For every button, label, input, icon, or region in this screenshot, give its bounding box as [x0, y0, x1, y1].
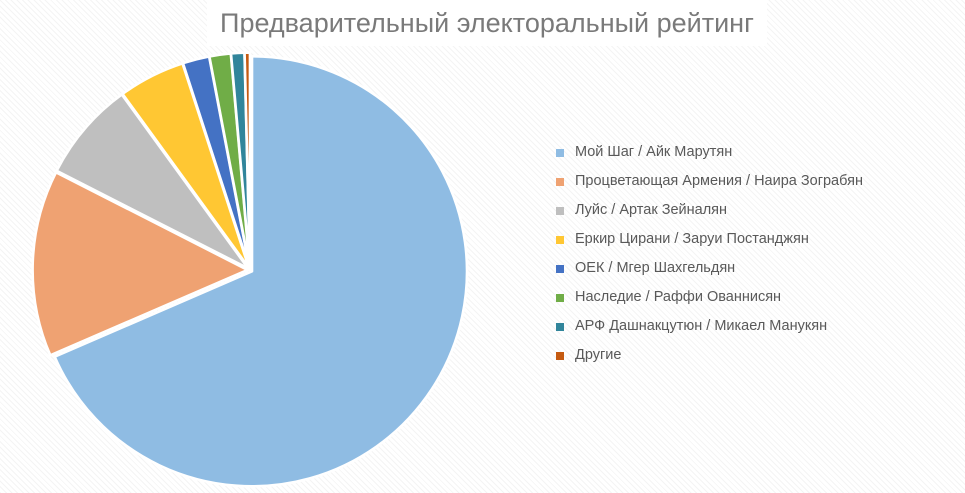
- legend-item-label: Мой Шаг / Айк Марутян: [575, 145, 732, 160]
- legend-swatch-icon: [556, 265, 564, 273]
- legend-item[interactable]: АРФ Дашнакцутюн / Микаел Манукян: [556, 312, 936, 341]
- legend-item-label: Еркир Цирани / Заруи Постанджян: [575, 232, 809, 247]
- page-title: Предварительный электоральный рейтинг: [220, 8, 754, 39]
- legend-item[interactable]: Наследие / Раффи Ованнисян: [556, 283, 936, 312]
- legend-item[interactable]: Мой Шаг / Айк Марутян: [556, 138, 936, 167]
- chart-legend: Мой Шаг / Айк МарутянПроцветающая Армени…: [556, 138, 936, 370]
- legend-item-label: Луйс / Артак Зейналян: [575, 203, 727, 218]
- legend-item-label: Другие: [575, 348, 621, 363]
- legend-item[interactable]: Другие: [556, 341, 936, 370]
- legend-item-label: Процветающая Армения / Наира Зограбян: [575, 174, 863, 189]
- legend-swatch-icon: [556, 294, 564, 302]
- legend-swatch-icon: [556, 149, 564, 157]
- legend-item-label: АРФ Дашнакцутюн / Микаел Манукян: [575, 319, 827, 334]
- legend-item[interactable]: Еркир Цирани / Заруи Постанджян: [556, 225, 936, 254]
- pie-chart: [18, 38, 488, 493]
- legend-item[interactable]: Луйс / Артак Зейналян: [556, 196, 936, 225]
- legend-swatch-icon: [556, 236, 564, 244]
- legend-item-label: Наследие / Раффи Ованнисян: [575, 290, 781, 305]
- legend-item[interactable]: ОЕК / Мгер Шахгельдян: [556, 254, 936, 283]
- slide-background: Предварительный электоральный рейтинг Мо…: [0, 0, 965, 493]
- legend-item-label: ОЕК / Мгер Шахгельдян: [575, 261, 735, 276]
- pie-slices: [33, 53, 467, 487]
- legend-swatch-icon: [556, 352, 564, 360]
- legend-swatch-icon: [556, 207, 564, 215]
- pie-chart-svg: [18, 38, 488, 493]
- legend-swatch-icon: [556, 178, 564, 186]
- legend-item[interactable]: Процветающая Армения / Наира Зограбян: [556, 167, 936, 196]
- legend-swatch-icon: [556, 323, 564, 331]
